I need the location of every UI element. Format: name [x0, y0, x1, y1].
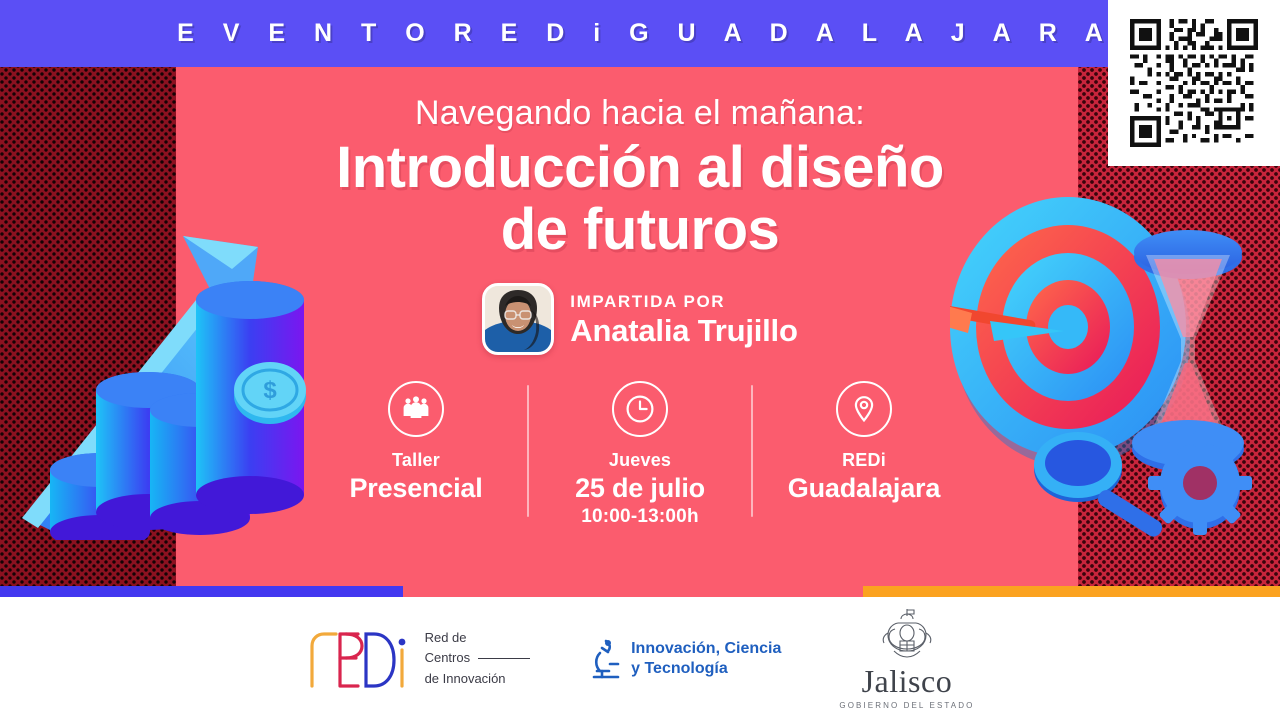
- event-poster: $: [0, 0, 1280, 720]
- info-column-modality: Taller Presencial: [316, 381, 516, 503]
- ict-line1: Innovación, Ciencia: [631, 639, 781, 659]
- title-line-1: Introducción al diseño: [336, 135, 944, 200]
- info-sub-time: 10:00-13:00h: [581, 506, 699, 528]
- qr-code-image: [1130, 19, 1258, 147]
- presenter-text: IMPARTIDA POR Anatalia Trujillo: [570, 293, 797, 346]
- bottom-accent-strip: [0, 586, 1280, 597]
- microscope-icon: [588, 636, 622, 682]
- poster-content: Navegando hacia el mañana: Introducción …: [0, 67, 1280, 586]
- accent-blue: [0, 586, 403, 597]
- redi-logo-text: Red de Centros de Innovación: [425, 628, 531, 688]
- redi-text-line1: Red de: [425, 628, 531, 648]
- title-line-2: de futuros: [336, 199, 944, 261]
- redi-logo-mark: [306, 628, 411, 690]
- presenter-block: IMPARTIDA POR Anatalia Trujillo: [482, 283, 797, 355]
- presenter-photo: [482, 283, 554, 355]
- jalisco-logo: Jalisco GOBIERNO DEL ESTADO: [839, 607, 974, 710]
- info-main-date: 25 de julio: [575, 473, 705, 503]
- info-divider-1: [527, 385, 529, 517]
- poster-canvas: $: [0, 0, 1280, 597]
- location-pin-icon: [836, 381, 892, 437]
- accent-pink: [403, 586, 863, 597]
- jalisco-name: Jalisco: [862, 663, 953, 700]
- footer-logos: Red de Centros de Innovación: [0, 597, 1280, 720]
- info-row: Taller Presencial Jueves 25 de julio 10:…: [316, 381, 964, 528]
- jalisco-subtitle: GOBIERNO DEL ESTADO: [839, 701, 974, 710]
- event-header-text: E V E N T O R E D i G U A D A L A J A R …: [166, 19, 1114, 48]
- presenter-name: Anatalia Trujillo: [570, 315, 797, 346]
- ict-logo: Innovación, Ciencia y Tecnología: [588, 636, 781, 682]
- redi-text-line3: de Innovación: [425, 669, 531, 689]
- redi-text-line2: Centros: [425, 648, 471, 668]
- info-top-place: REDi: [842, 450, 886, 471]
- avatar-image: [485, 286, 551, 352]
- accent-orange: [863, 586, 1280, 597]
- poster-subtitle: Navegando hacia el mañana:: [415, 94, 865, 133]
- info-top-modality: Taller: [392, 450, 440, 471]
- info-top-date: Jueves: [609, 450, 671, 471]
- redi-rule: [478, 658, 530, 659]
- ict-logo-text: Innovación, Ciencia y Tecnología: [631, 639, 781, 678]
- info-column-date: Jueves 25 de julio 10:00-13:00h: [540, 381, 740, 528]
- ict-line2: y Tecnología: [631, 659, 781, 679]
- info-column-place: REDi Guadalajara: [764, 381, 964, 503]
- poster-title: Introducción al diseño de futuros: [336, 137, 944, 261]
- people-icon: [388, 381, 444, 437]
- presenter-label: IMPARTIDA POR: [570, 293, 797, 310]
- info-main-modality: Presencial: [349, 473, 482, 503]
- event-header-band: E V E N T O R E D i G U A D A L A J A R …: [0, 0, 1280, 67]
- clock-icon: [612, 381, 668, 437]
- jalisco-coat-of-arms: [868, 607, 946, 665]
- info-main-place: Guadalajara: [788, 473, 940, 503]
- info-divider-2: [751, 385, 753, 517]
- qr-code[interactable]: [1108, 0, 1280, 166]
- redi-logo: Red de Centros de Innovación: [306, 628, 531, 690]
